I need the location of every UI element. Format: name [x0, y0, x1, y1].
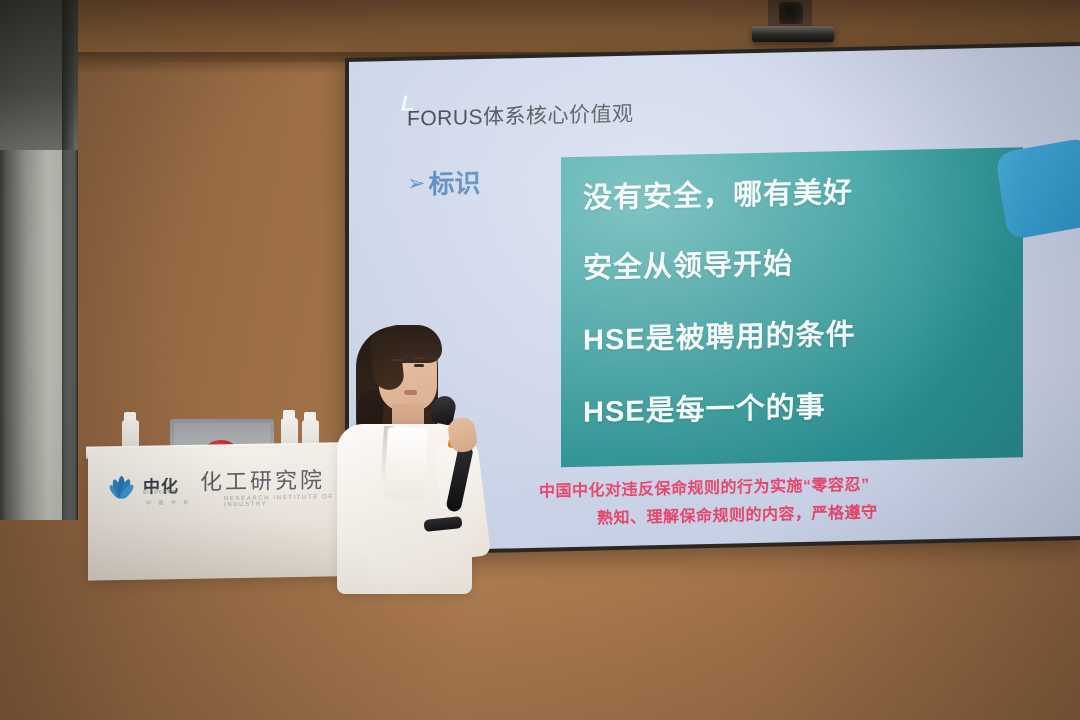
speaker-jacket-lapel: [384, 427, 428, 501]
blue-badge-icon: [995, 137, 1080, 241]
blue-badge-mark: L: [401, 90, 414, 116]
slogan-line-4: HSE是每一个的事: [583, 384, 826, 431]
projector-body: [752, 26, 834, 42]
institute-name-cn: 化工研究院: [200, 462, 325, 496]
slogan-line-1: 没有安全，哪有美好: [583, 169, 853, 217]
speaker-mouth: [404, 390, 417, 395]
lotus-logo-icon: [106, 472, 136, 499]
slide-footnote-1: 中国中化对违反保命规则的行为实施“零容忍”: [539, 471, 870, 502]
brand-name-en: sinochem: [143, 489, 178, 496]
projector-lens-icon: [779, 2, 803, 24]
water-bottle-cap: [124, 412, 136, 420]
slide-highlight-box: 没有安全，哪有美好 安全从领导开始 HSE是被聘用的条件 HSE是每一个的事: [561, 147, 1023, 467]
water-bottle-cap: [283, 410, 295, 418]
slide-bullet-label: 标识: [428, 163, 480, 201]
slide-bullet-标识: ➢ 标识: [407, 163, 480, 202]
presentation-photo-scene: FORUS体系核心价值观 ➢ 标识 没有安全，哪有美好 安全从领导开始 HSE是…: [0, 0, 1080, 720]
slide-footnote-2: 熟知、理解保命规则的内容，严格遵守: [597, 498, 878, 528]
speaker-eye-left: [392, 366, 402, 369]
arrow-bullet-icon: ➢: [407, 172, 425, 194]
brand-sub-cn: 中 国 中 化: [146, 499, 191, 507]
slide-title: FORUS体系核心价值观: [407, 98, 634, 133]
speaker-eyebrow-right: [413, 357, 425, 359]
speaker-eyebrow-left: [391, 359, 403, 361]
slogan-line-2: 安全从领导开始: [583, 240, 793, 287]
wall-door-edge: [62, 0, 74, 520]
water-bottle-cap: [304, 412, 316, 420]
slogan-line-3: HSE是被聘用的条件: [583, 311, 856, 359]
speaker-eye-right: [414, 364, 424, 367]
